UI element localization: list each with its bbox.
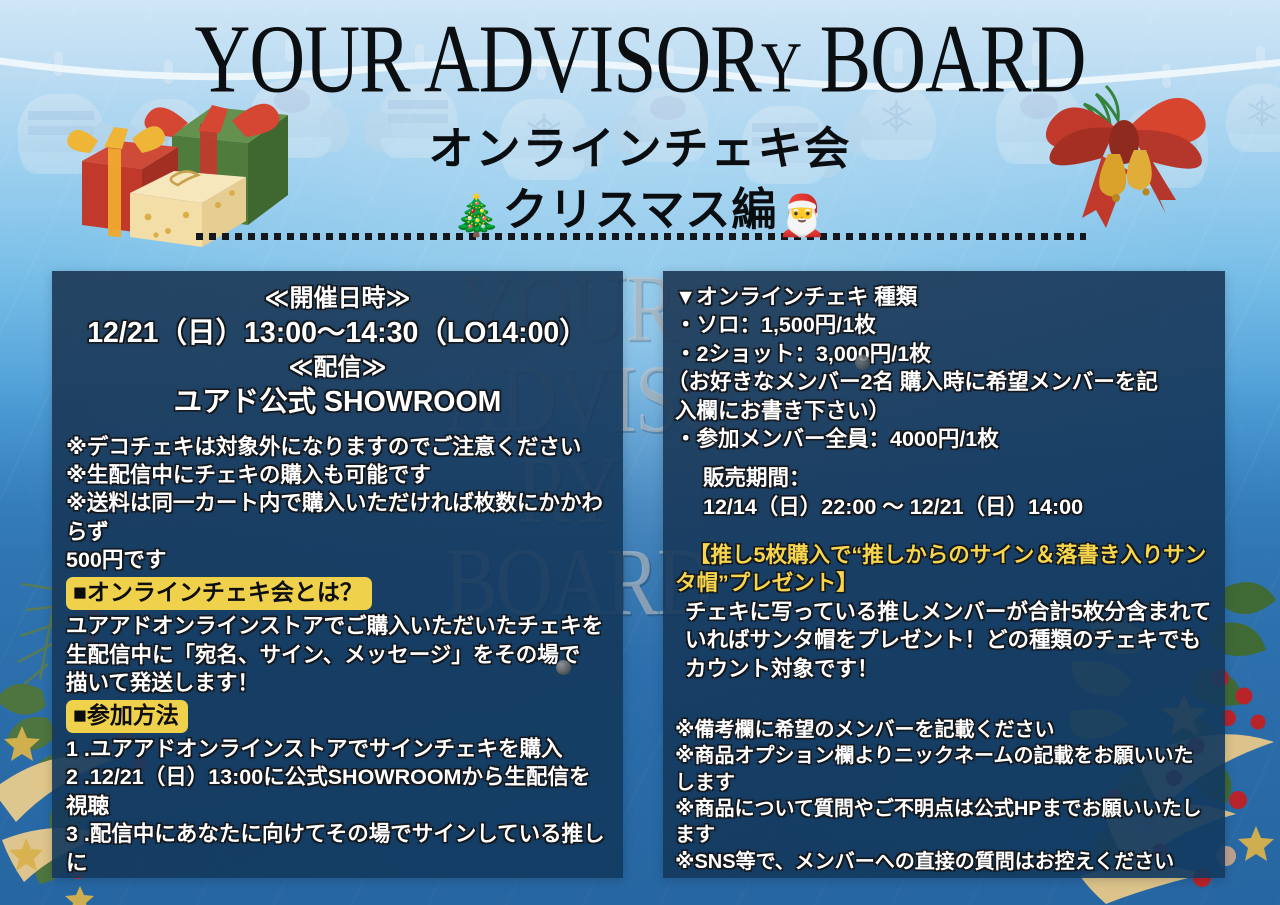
what-is-line: ユアアドオンラインストアでご購入いただいたチェキを	[52, 612, 623, 640]
event-datetime: 12/21（日）13:00〜14:30（LO14:00）	[52, 315, 623, 353]
footnote-line: ※備考欄に希望のメンバーを記載ください	[675, 717, 1213, 743]
promo-headline-line-1: 【推し5枚購入で“推しからのサイン＆落書き入りサン	[675, 541, 1213, 569]
note-line: ※デコチェキは対象外になりますのでご注意ください	[52, 433, 623, 461]
promo-body-line: いればサンタ帽をプレゼント！どの種類のチェキでも	[675, 626, 1213, 654]
what-is-line: 描いて発送します！	[52, 669, 623, 697]
badge-how-to-join: ■参加方法	[66, 700, 188, 733]
how-step: 3 .配信中にあなたに向けてその場でサインしている推しに	[52, 820, 623, 877]
note-line-continued: 500円です	[52, 546, 623, 574]
type-item: ・ソロ：1,500円/1枚	[675, 311, 1213, 339]
types-note-line-2: 入欄にお書き下さい）	[675, 397, 1213, 425]
brand-logo: YOUR ADVISORY BOARD	[51, 14, 1229, 107]
right-info-panel: ▼オンラインチェキ 種類 ・ソロ：1,500円/1枚 ・2ショット：3,000円…	[663, 271, 1225, 878]
subtitle-primary: オンラインチェキ会	[0, 112, 1280, 177]
badge-what-is: ■オンラインチェキ会とは？	[66, 577, 372, 610]
logo-tail: BOARD	[801, 6, 1085, 114]
sale-period-label: 販売期間：	[675, 464, 1213, 492]
santa-icon: 🎅	[777, 194, 828, 238]
subtitle-secondary: 🎄クリスマス編🎅	[0, 173, 1280, 239]
how-step: 2 .12/21（日）13:00に公式SHOWROOMから生配信を視聴	[52, 763, 623, 820]
promo-body-line: カウント対象です！	[675, 655, 1213, 683]
screw-left-icon	[556, 660, 571, 675]
footnote-line: ※商品オプション欄よりニックネームの記載をお願いいたします	[675, 743, 1213, 796]
heading-stream: ≪配信≫	[52, 352, 623, 384]
what-is-line: 生配信中に「宛名、サイン、メッセージ」をその場で	[52, 641, 623, 669]
note-line: ※生配信中にチェキの購入も可能です	[52, 461, 623, 489]
footnote-line: ※SNS等で、メンバーへの直接の質問はお控えください	[675, 849, 1213, 875]
types-heading: ▼オンラインチェキ 種類	[675, 283, 1213, 311]
type-item: ・2ショット：3,000円/1枚	[675, 340, 1213, 368]
promo-headline-line-2: タ帽”プレゼント】	[675, 569, 1213, 597]
promo-body-line: チェキに写っている推しメンバーが合計5枚分含まれて	[675, 598, 1213, 626]
logo-y: Y	[761, 29, 801, 108]
note-line: ※送料は同一カート内で購入いただければ枚数にかかわらず	[52, 489, 623, 546]
poster-canvas: YOUR ADVISORY BOARD オンラインチェキ会 🎄クリスマス編🎅 Y…	[0, 0, 1280, 905]
subtitle-secondary-text: クリスマス編	[503, 184, 778, 235]
logo-main: YOUR ADVISOR	[194, 6, 760, 114]
how-step: 1 .ユアアドオンラインストアでサインチェキを購入	[52, 735, 623, 763]
sale-period-value: 12/14（日）22:00 〜 12/21（日）14:00	[675, 493, 1213, 521]
screw-right-icon	[855, 355, 870, 370]
type-all-members: ・参加メンバー全員：4000円/1枚	[675, 425, 1213, 453]
types-note-line-1: （お好きなメンバー2名 購入時に希望メンバーを記	[667, 368, 1213, 396]
left-info-panel: ≪開催日時≫ 12/21（日）13:00〜14:30（LO14:00） ≪配信≫…	[52, 271, 623, 878]
christmas-tree-icon: 🎄	[452, 194, 503, 238]
how-step-3-continued: コメント！	[52, 877, 623, 878]
heading-datetime: ≪開催日時≫	[52, 283, 623, 315]
footnote-line: ※商品について質問やご不明点は公式HPまでお願いいたします	[675, 796, 1213, 849]
stream-platform: ユアド公式 SHOWROOM	[52, 384, 623, 422]
